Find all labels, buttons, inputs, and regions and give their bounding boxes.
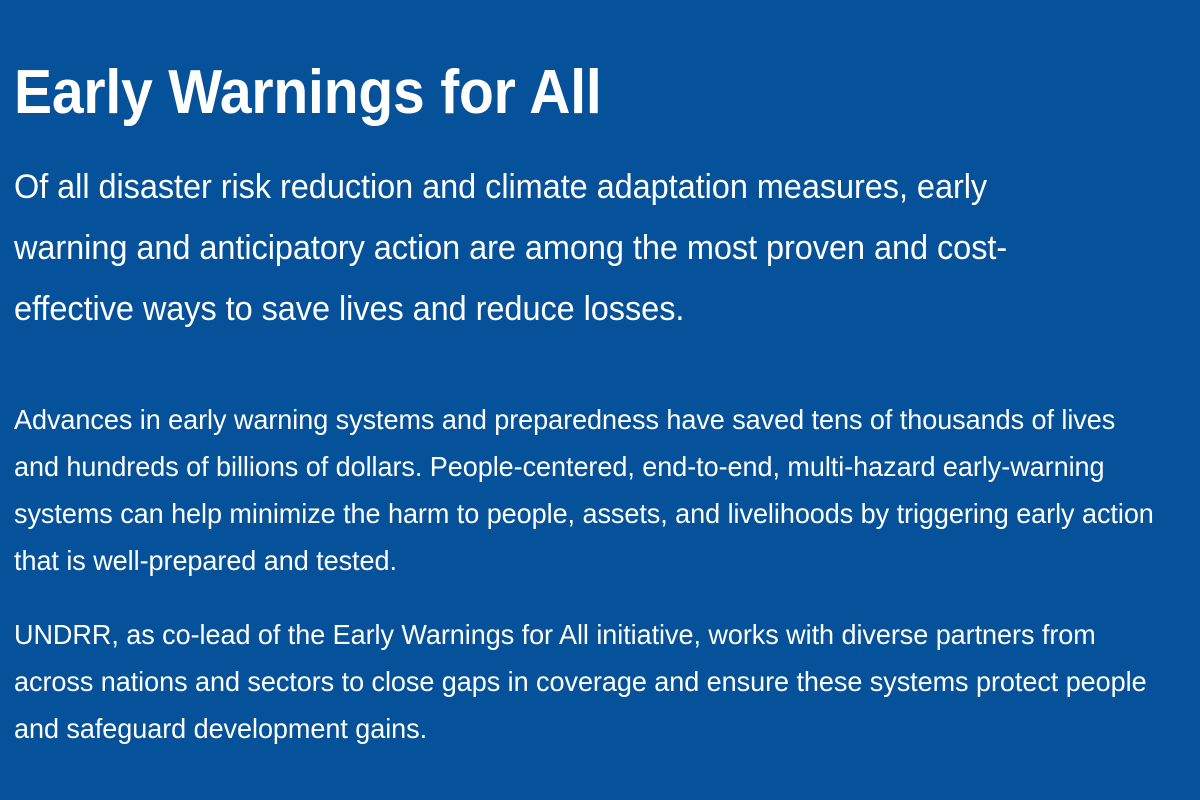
article-lead-paragraph: Of all disaster risk reduction and clima… <box>14 124 1084 340</box>
page-title: Early Warnings for All <box>14 0 1096 124</box>
article-paragraph-2: UNDRR, as co-lead of the Early Warnings … <box>14 611 1158 752</box>
article-body: Advances in early warning systems and pr… <box>14 340 1190 752</box>
article-paragraph-1: Advances in early warning systems and pr… <box>14 396 1158 584</box>
article-content: Early Warnings for All Of all disaster r… <box>14 0 1190 752</box>
article-page: Early Warnings for All Of all disaster r… <box>0 0 1200 800</box>
